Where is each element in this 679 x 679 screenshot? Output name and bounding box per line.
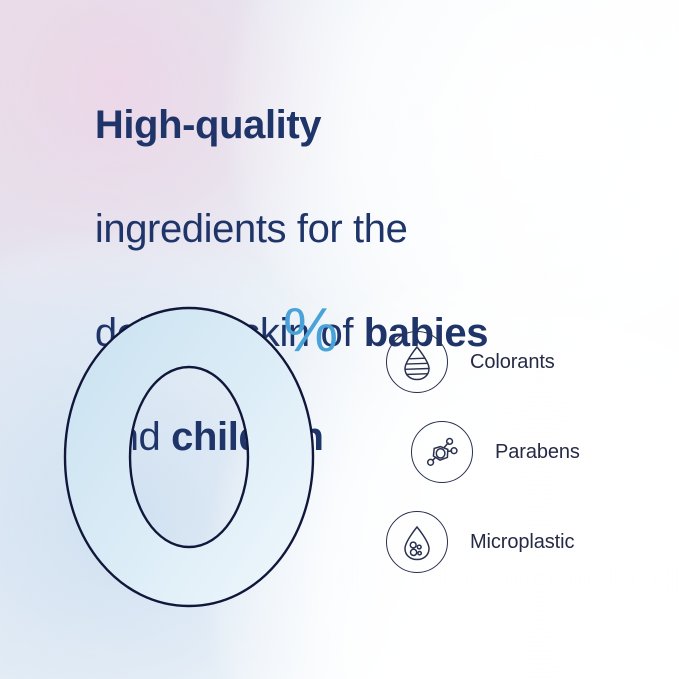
- list-item[interactable]: Colorants: [386, 331, 666, 393]
- list-item[interactable]: Microplastic: [386, 511, 666, 573]
- percent-symbol: %: [283, 300, 337, 362]
- poster-canvas: High-quality ingredients for the delicat…: [0, 0, 679, 679]
- droplet-striped-icon: [386, 331, 448, 393]
- list-item-label: Parabens: [495, 440, 580, 464]
- list-item-label: Microplastic: [470, 530, 574, 554]
- headline-line-2: ingredients for the: [95, 207, 408, 251]
- droplet-particles-icon: [386, 511, 448, 573]
- free-from-list: Colorants Parabens: [386, 331, 666, 601]
- list-item-label: Colorants: [470, 350, 555, 374]
- zero-percent-claim: [58, 303, 320, 611]
- headline-line-1-bold: High-quality: [95, 103, 321, 147]
- list-item[interactable]: Parabens: [411, 421, 666, 483]
- zero-glyph: [65, 308, 313, 606]
- molecule-icon: [411, 421, 473, 483]
